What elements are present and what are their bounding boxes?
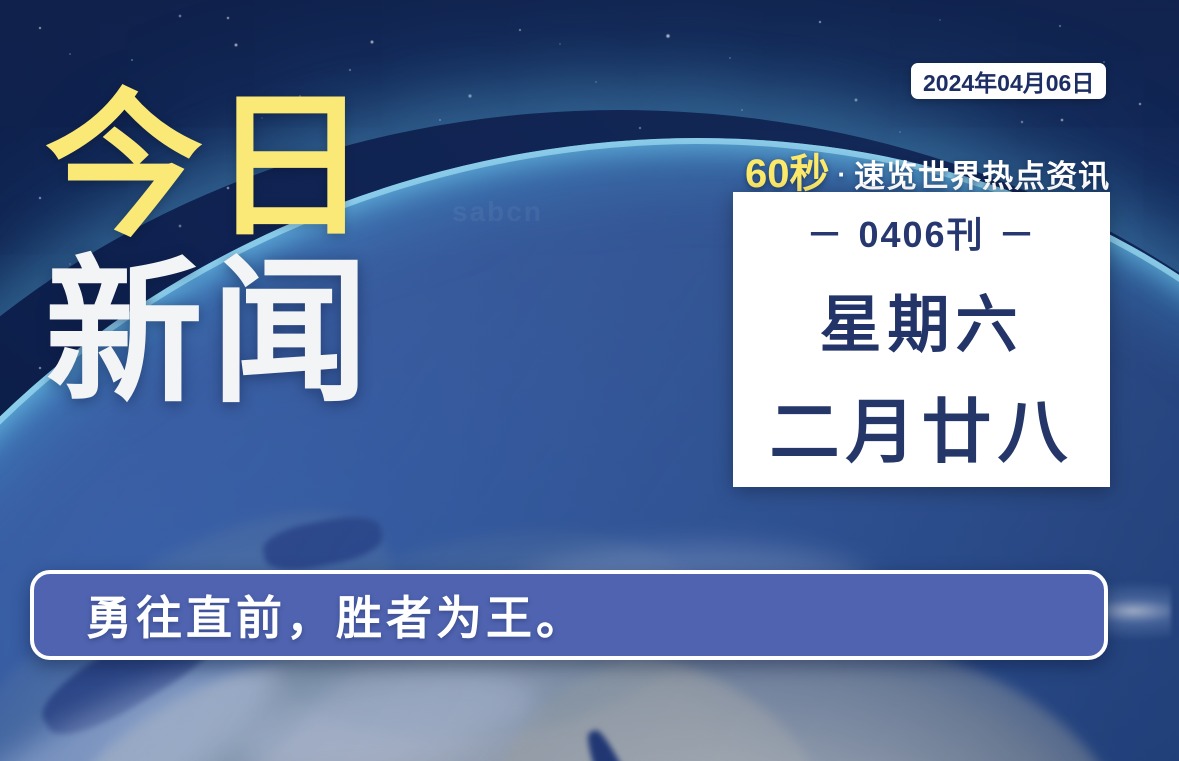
- slogan-text: 勇往直前，胜者为王。: [86, 582, 586, 648]
- watermark-text: sabcn: [452, 196, 543, 228]
- slogan-bar: 勇往直前，胜者为王。: [30, 570, 1108, 660]
- issue-dash-left-icon: －: [806, 206, 844, 258]
- title-line-jinri: 今日: [45, 92, 377, 242]
- poster-title: 今日 新闻: [45, 92, 377, 408]
- weekday-label: 星期六: [819, 274, 1023, 364]
- lunar-date-label: 二月廿八: [770, 376, 1074, 477]
- tagline: 60秒 · 速览世界热点资讯: [745, 141, 1110, 199]
- issue-number-label: 0406刊: [858, 206, 984, 258]
- tagline-separator-icon: ·: [834, 159, 851, 190]
- tagline-duration: 60秒: [745, 141, 830, 199]
- issue-row: － 0406刊 －: [806, 206, 1036, 258]
- issue-dash-right-icon: －: [999, 206, 1037, 258]
- date-badge: 2024年04月06日: [911, 63, 1106, 99]
- date-badge-label: 2024年04月06日: [923, 64, 1094, 98]
- title-line-xinwen: 新闻: [45, 258, 377, 408]
- tagline-description: 速览世界热点资讯: [854, 151, 1110, 196]
- date-info-card: － 0406刊 － 星期六 二月廿八: [733, 192, 1110, 487]
- news-poster: sabcn 今日 新闻 2024年04月06日 60秒 · 速览世界热点资讯 －…: [0, 0, 1179, 761]
